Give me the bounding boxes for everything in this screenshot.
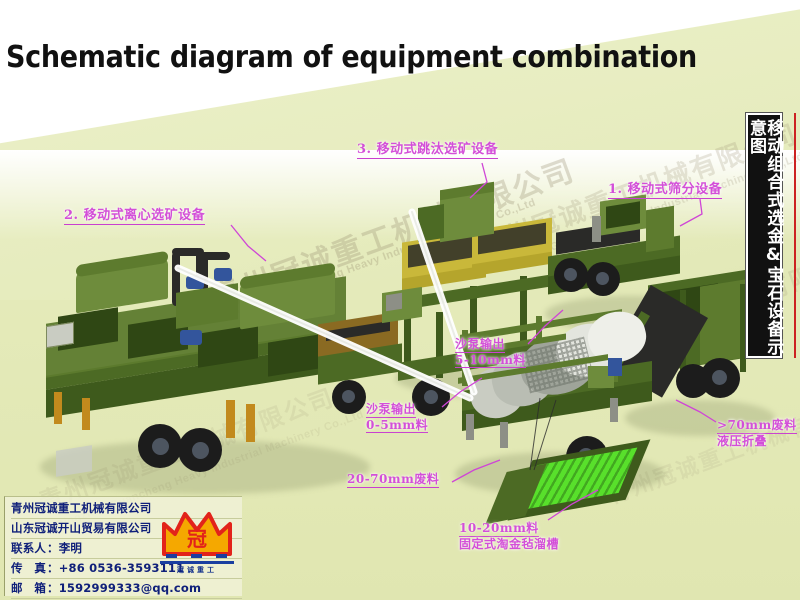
jack-left-4 xyxy=(246,404,255,442)
left-trailer-hub-2 xyxy=(192,442,209,459)
trommel-jack-2 xyxy=(500,422,508,448)
contact-email-row[interactable]: 邮 箱：1592999333@qq.com xyxy=(11,579,242,599)
left-trailer-control-panel xyxy=(46,322,74,348)
callout-sand-pump-output-5-10mm: 沙泵输出 5-10mm料 xyxy=(455,337,526,368)
callout-sand-pump-output-0-5mm: 沙泵输出 0-5mm料 xyxy=(366,402,428,433)
banner-title-text: 移动组合式选金&宝石设备示意图 xyxy=(747,119,782,356)
callout-mobile-jig-separation-equipment: 3. 移动式跳汰选矿设备 xyxy=(357,142,498,159)
callout-4-line2: 5-10mm料 xyxy=(455,353,526,369)
trommel-gearbox xyxy=(608,358,622,376)
centrifuge-motor-1 xyxy=(186,276,204,289)
centrifuge-pipe-2-elbow xyxy=(200,252,230,260)
callout-7-line1: 10-20mm料 xyxy=(459,521,539,537)
callout-fixed-gold-carpet-sluice-10-20mm: 10-20mm料 固定式淘金毡溜槽 xyxy=(459,521,559,551)
jack-left-2 xyxy=(82,398,90,430)
centrifuge-motor-2 xyxy=(214,268,232,281)
contact-email-value[interactable]: ：1592999333@qq.com xyxy=(47,581,201,595)
mid-hub-1 xyxy=(342,390,355,403)
crown-icon: 冠 xyxy=(160,508,234,558)
callout-4-line1: 沙泵输出 xyxy=(455,337,505,353)
callout-waste-over-70mm-hydraulic-folding: >70mm废料 液压折叠 xyxy=(717,418,797,448)
trommel-jack-1 xyxy=(466,414,474,440)
page-title: Schematic diagram of equipment combinati… xyxy=(6,40,697,75)
screen-end-frame xyxy=(646,206,674,252)
banner-red-rule xyxy=(794,113,796,358)
jack-left-1 xyxy=(54,392,62,424)
jig-engine-block xyxy=(386,293,402,312)
crown-mark-char: 冠 xyxy=(187,527,207,551)
callout-1-text: 1. 移动式筛分设备 xyxy=(608,182,722,199)
callout-8-line1: >70mm废料 xyxy=(717,418,797,434)
callout-5-line2: 0-5mm料 xyxy=(366,418,428,434)
company-logo: 冠 冠诚重工 xyxy=(160,508,234,570)
callout-7-line2: 固定式淘金毡溜槽 xyxy=(459,537,559,551)
trommel-jack-3 xyxy=(610,398,618,422)
contact-email-key: 邮 箱 xyxy=(11,579,47,598)
callout-2-text: 2. 移动式离心选矿设备 xyxy=(64,208,205,225)
screen-hub-2 xyxy=(596,272,609,285)
callout-mobile-centrifugal-separation-equipment: 2. 移动式离心选矿设备 xyxy=(64,208,205,225)
left-trailer-hub-1 xyxy=(152,438,169,455)
stacker-hub-1 xyxy=(712,370,727,385)
screen-hub-1 xyxy=(564,268,577,281)
centrifuge-drive-unit xyxy=(180,330,202,345)
callout-waste-20-70mm: 20-70mm废料 xyxy=(347,472,439,488)
callout-6-text: 20-70mm废料 xyxy=(347,472,439,488)
logo-base-bar xyxy=(160,561,234,564)
callout-8-line2: 液压折叠 xyxy=(717,434,767,448)
callout-5-line1: 沙泵输出 xyxy=(366,402,416,418)
banner-title: 移动组合式选金&宝石设备示意图 xyxy=(746,113,782,358)
contact-person-value: ：李明 xyxy=(47,541,82,555)
jig-feed-chute xyxy=(418,204,444,242)
jack-left-3 xyxy=(226,400,235,438)
logo-caption: 冠诚重工 xyxy=(160,565,234,575)
contact-person-key: 联系人 xyxy=(11,539,47,558)
schematic-canvas: 青州冠诚重工机械有限公司 Qingzhou Guancheng Heavy In… xyxy=(0,0,800,600)
stacker-tire-2 xyxy=(676,364,710,398)
callout-3-text: 3. 移动式跳汰选矿设备 xyxy=(357,142,498,159)
callout-mobile-screening-equipment: 1. 移动式筛分设备 xyxy=(608,182,722,199)
contact-fax-key: 传 真 xyxy=(11,559,47,578)
screen-post xyxy=(592,216,601,242)
